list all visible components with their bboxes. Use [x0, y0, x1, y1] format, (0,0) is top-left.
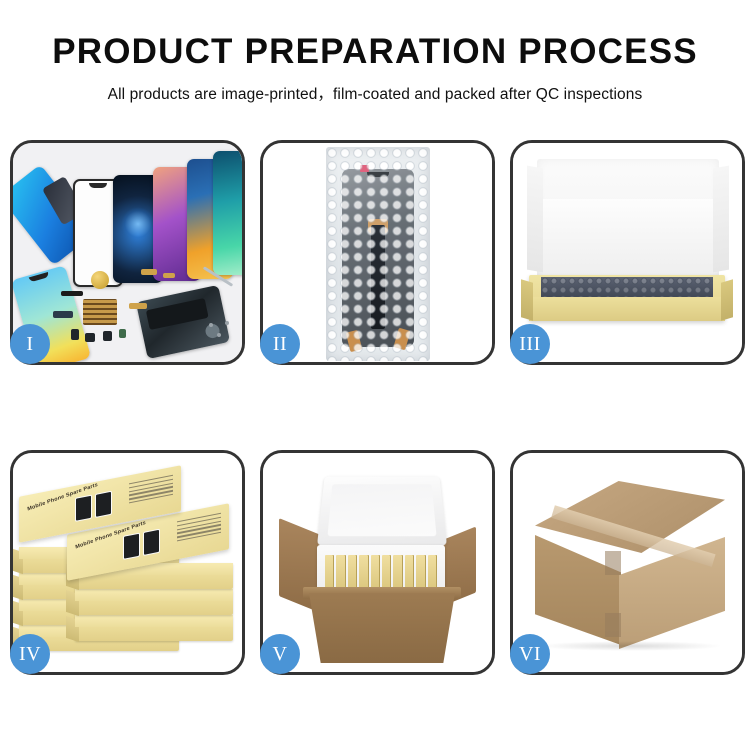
step-badge-5: V	[260, 634, 300, 674]
drop-shadow	[537, 641, 723, 651]
foam-padding	[543, 199, 713, 283]
product-image-swatch	[123, 533, 140, 560]
box-stack: Mobile Phone Spare Parts Mobile Phone Sp…	[19, 475, 237, 661]
step-badge-3: III	[510, 324, 550, 364]
product-image-swatch	[143, 529, 160, 556]
step-panel-6: VI	[510, 450, 745, 675]
flex-cable-part	[141, 269, 157, 275]
small-component-part	[103, 331, 112, 341]
flex-cable-part	[61, 291, 83, 296]
bubble-texture-overlay	[326, 147, 430, 361]
bubble-wrapped-contents	[541, 277, 713, 299]
flex-cable-part	[53, 311, 73, 318]
step-panel-4: Mobile Phone Spare Parts Mobile Phone Sp…	[10, 450, 245, 675]
step-badge-2: II	[260, 324, 300, 364]
step-panel-5: V	[260, 450, 495, 675]
box-left-face	[521, 279, 533, 320]
box-spec-lines	[177, 513, 221, 544]
step-image-1	[13, 143, 242, 362]
step-image-2	[263, 143, 492, 362]
phone-chassis-disassembled	[136, 285, 230, 359]
screw-part	[225, 321, 229, 325]
step-panel-1: I	[10, 140, 245, 365]
kraft-inner-box	[529, 275, 725, 321]
step-image-6	[513, 453, 742, 672]
header: PRODUCT PREPARATION PROCESS All products…	[0, 0, 750, 104]
step-panel-3: III	[510, 140, 745, 365]
product-preparation-infographic: PRODUCT PREPARATION PROCESS All products…	[0, 0, 750, 750]
foam-box-lid	[317, 476, 447, 545]
box-right-face	[721, 279, 733, 320]
flex-cable-part	[163, 273, 175, 278]
step-badge-1: I	[10, 324, 50, 364]
step-badge-4: IV	[10, 634, 50, 674]
stacked-box	[75, 589, 233, 615]
small-component-part	[85, 333, 95, 342]
small-component-part	[71, 329, 79, 340]
connector-pad-part	[83, 299, 117, 325]
vibration-motor-part	[91, 271, 109, 289]
step-panel-2: II	[260, 140, 495, 365]
steps-grid: I II	[10, 140, 745, 675]
product-image-swatch	[95, 491, 112, 518]
bubble-wrap-bag	[326, 147, 430, 361]
page-title: PRODUCT PREPARATION PROCESS	[0, 34, 750, 71]
step-image-3	[513, 143, 742, 362]
step-badge-6: VI	[510, 634, 550, 674]
box-spec-lines	[129, 475, 173, 506]
stacked-box	[75, 615, 233, 641]
screw-part	[217, 333, 221, 337]
packing-tape-seal	[605, 613, 621, 637]
step-image-4: Mobile Phone Spare Parts Mobile Phone Sp…	[13, 453, 242, 672]
step-image-5	[263, 453, 492, 672]
box-front-panel	[529, 297, 725, 321]
page-subtitle: All products are image-printed，film-coat…	[0, 82, 750, 104]
screw-part	[209, 323, 213, 327]
carton-body	[309, 593, 455, 663]
packing-tape-seal	[605, 551, 621, 575]
phone-screen-teal	[213, 151, 242, 275]
flex-cable-part	[129, 303, 147, 309]
small-component-part	[119, 329, 126, 338]
product-image-swatch	[75, 495, 92, 522]
